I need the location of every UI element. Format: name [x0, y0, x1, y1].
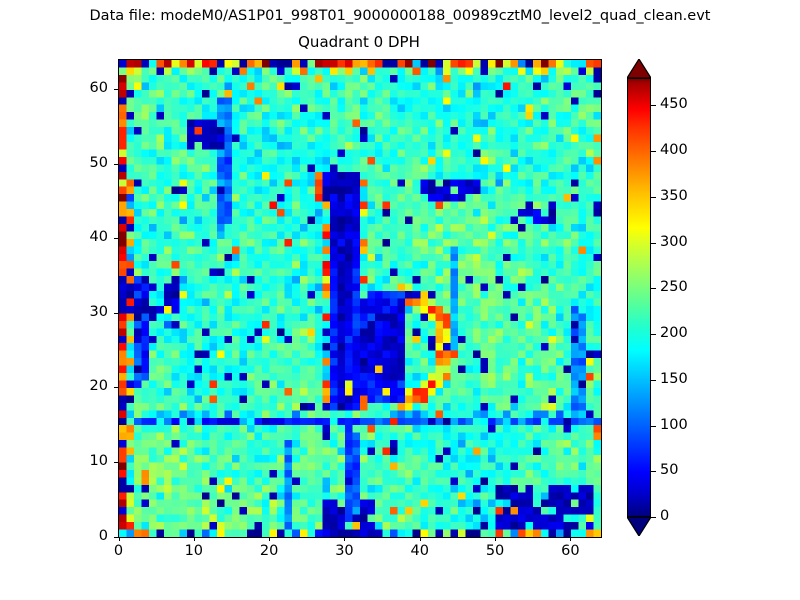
y-tick-mark — [114, 89, 118, 90]
colorbar-tick-mark — [651, 105, 656, 106]
axes-title: Quadrant 0 DPH — [118, 33, 600, 52]
colorbar-tick-label: 100 — [660, 417, 688, 434]
x-tick-mark — [495, 537, 496, 541]
colorbar-tick-mark — [651, 197, 656, 198]
colorbar-tick-label: 400 — [660, 142, 688, 159]
x-tick-mark — [420, 537, 421, 541]
heatmap-axes[interactable] — [118, 59, 602, 538]
y-tick-mark — [114, 238, 118, 239]
colorbar-gradient-box — [627, 78, 651, 517]
colorbar-tick-mark — [651, 288, 656, 289]
colorbar-tick-label: 200 — [660, 325, 688, 342]
colorbar-tick-mark — [651, 334, 656, 335]
colorbar-extend-top-outline — [627, 59, 651, 78]
y-tick-mark — [114, 462, 118, 463]
heatmap-image[interactable] — [119, 60, 601, 537]
x-tick-label: 50 — [465, 543, 525, 560]
colorbar[interactable] — [627, 59, 651, 536]
colorbar-tick-label: 450 — [660, 96, 688, 113]
y-tick-mark — [114, 164, 118, 165]
colorbar-tick-label: 0 — [660, 508, 669, 525]
colorbar-tick-mark — [651, 151, 656, 152]
y-tick-label: 20 — [48, 378, 108, 395]
y-tick-mark — [114, 387, 118, 388]
x-tick-label: 20 — [239, 543, 299, 560]
colorbar-tick-mark — [651, 517, 656, 518]
x-tick-label: 40 — [390, 543, 450, 560]
figure-canvas: Data file: modeM0/AS1P01_998T01_90000001… — [0, 0, 800, 600]
y-tick-mark — [114, 537, 118, 538]
x-tick-mark — [570, 537, 571, 541]
colorbar-tick-mark — [651, 243, 656, 244]
x-tick-mark — [119, 537, 120, 541]
colorbar-tick-label: 150 — [660, 371, 688, 388]
y-tick-label: 40 — [48, 229, 108, 246]
y-tick-label: 60 — [48, 80, 108, 97]
colorbar-tick-label: 50 — [660, 462, 678, 479]
colorbar-tick-label: 250 — [660, 279, 688, 296]
x-tick-label: 0 — [89, 543, 149, 560]
y-tick-mark — [114, 313, 118, 314]
x-tick-label: 30 — [314, 543, 374, 560]
colorbar-tick-mark — [651, 380, 656, 381]
y-tick-label: 10 — [48, 453, 108, 470]
y-tick-label: 50 — [48, 155, 108, 172]
colorbar-tick-label: 350 — [660, 188, 688, 205]
figure-suptitle: Data file: modeM0/AS1P01_998T01_90000001… — [0, 7, 800, 25]
x-tick-label: 10 — [164, 543, 224, 560]
colorbar-tick-mark — [651, 471, 656, 472]
colorbar-extend-bottom-outline — [627, 517, 651, 536]
x-tick-label: 60 — [540, 543, 600, 560]
y-tick-label: 30 — [48, 304, 108, 321]
y-tick-label: 0 — [48, 528, 108, 545]
colorbar-tick-mark — [651, 426, 656, 427]
colorbar-tick-label: 300 — [660, 234, 688, 251]
colorbar-gradient — [628, 79, 650, 516]
x-tick-mark — [344, 537, 345, 541]
x-tick-mark — [194, 537, 195, 541]
x-tick-mark — [269, 537, 270, 541]
